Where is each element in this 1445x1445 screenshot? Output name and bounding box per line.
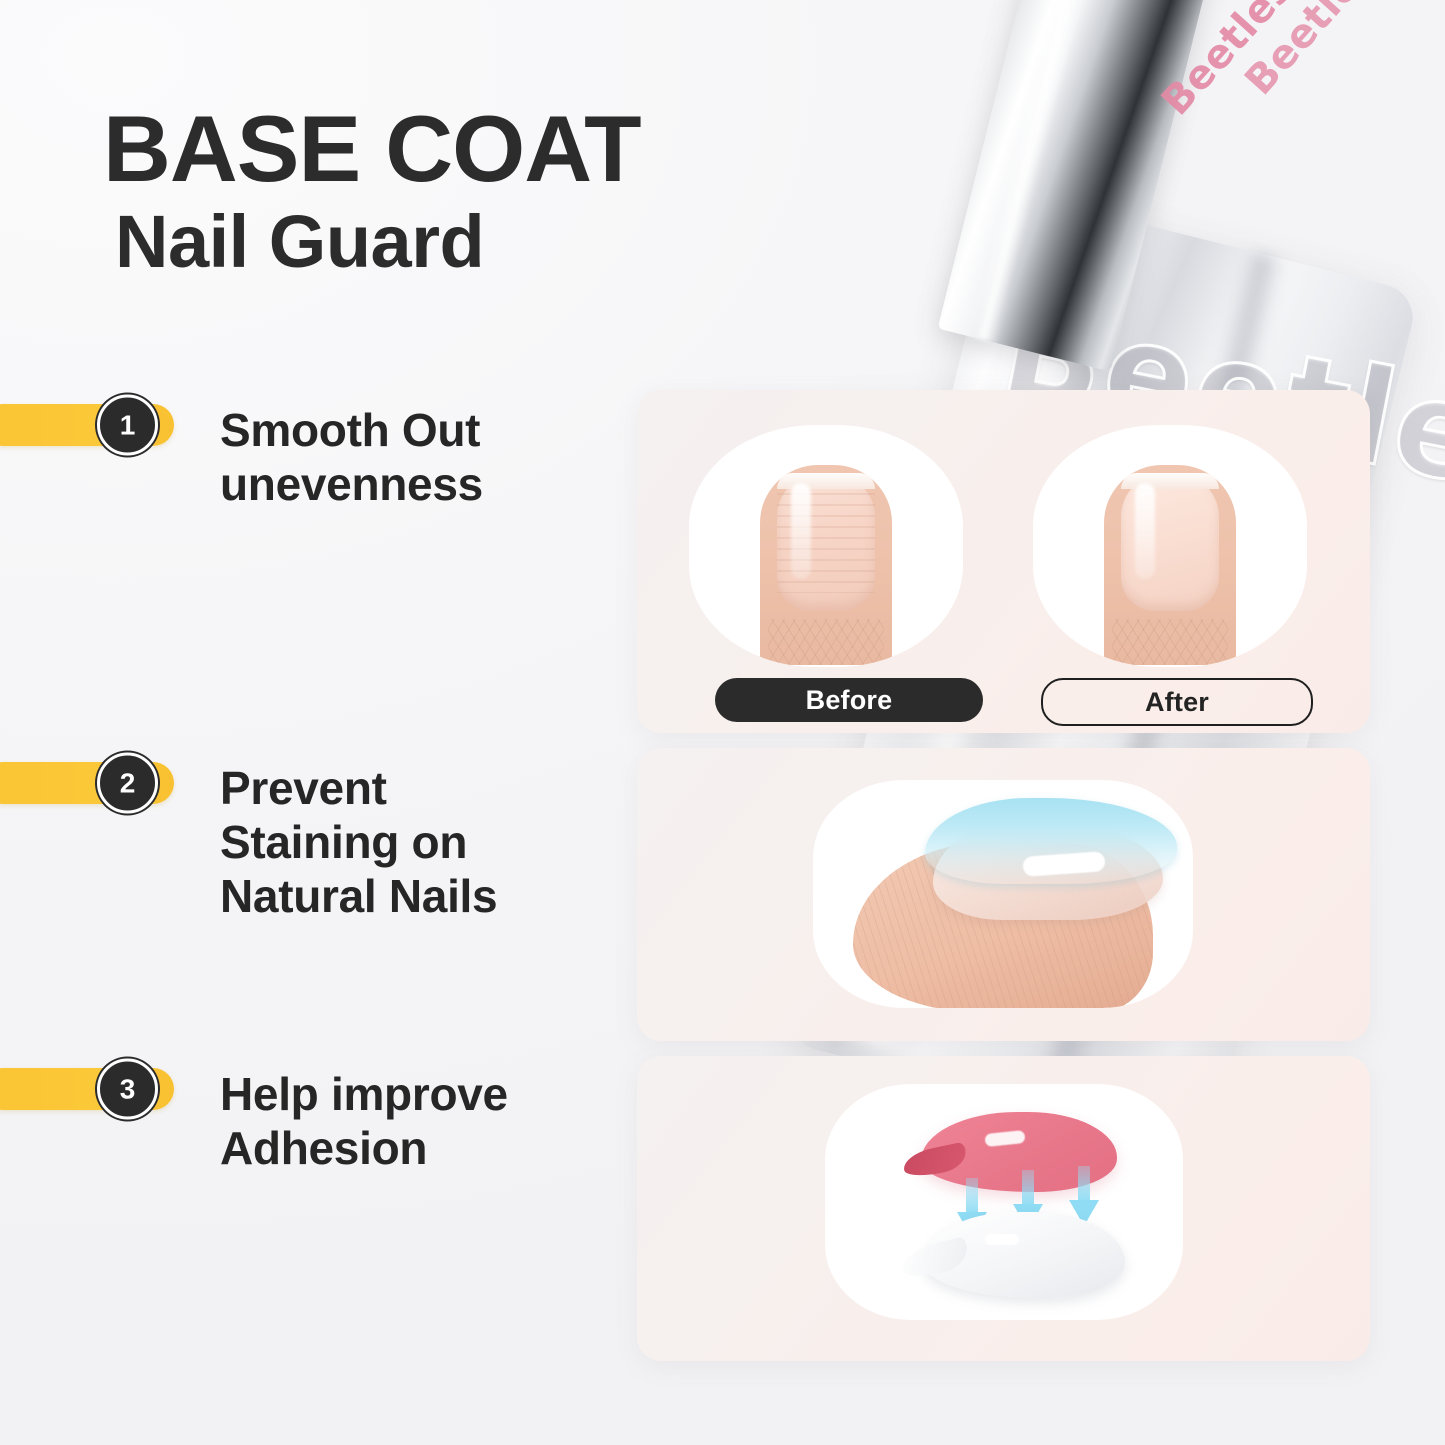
feature-number-3: 3 <box>120 1075 136 1103</box>
finger-illustration-before <box>760 465 892 665</box>
bottle-cap: Beetles Beetles Beetles <box>938 0 1224 372</box>
nail-highlight <box>791 483 811 579</box>
label-after: After <box>1041 678 1313 726</box>
page-title-group: BASE COAT Nail Guard <box>103 104 641 279</box>
feature-number-circle-3: 3 <box>97 1059 158 1120</box>
card-before-after: Before After <box>637 390 1370 733</box>
cap-brand-text-2: Beetles <box>1153 0 1302 124</box>
feature-badge-2: 2 <box>0 762 174 804</box>
card-coating-protection <box>637 748 1370 1041</box>
nail-photo-after <box>1033 425 1307 667</box>
feature-label-3: Help improve Adhesion <box>220 1068 508 1176</box>
infographic-canvas: Beetles COAT 0.5 fl.oz Beetles Beetles B… <box>0 0 1445 1445</box>
base-coat-highlight <box>985 1234 1019 1245</box>
feature-number-1: 1 <box>120 411 136 439</box>
skin-texture <box>768 619 884 665</box>
coating-illustration-holder <box>813 780 1193 1008</box>
cap-highlight <box>969 0 1110 343</box>
page-subtitle: Nail Guard <box>115 205 641 279</box>
skin-texture <box>1112 619 1228 665</box>
feature-number-circle-2: 2 <box>97 753 158 814</box>
feature-label-2: Prevent Staining on Natural Nails <box>220 762 497 923</box>
page-title: BASE COAT <box>103 104 641 193</box>
nail-photo-before <box>689 425 963 667</box>
feature-item-2: 2 Prevent Staining on Natural Nails <box>0 762 497 923</box>
feature-label-1: Smooth Out unevenness <box>220 404 483 512</box>
cap-brand-text-3: Beetles <box>1236 0 1385 104</box>
adhesion-illustration-holder <box>825 1084 1183 1320</box>
nail-highlight <box>1135 483 1155 579</box>
feature-badge-1: 1 <box>0 404 174 446</box>
feature-number-circle-1: 1 <box>97 395 158 456</box>
label-before: Before <box>715 678 983 722</box>
nail-after <box>1121 473 1219 611</box>
feature-number-2: 2 <box>120 769 136 797</box>
feature-badge-3: 3 <box>0 1068 174 1110</box>
nail-before <box>777 473 875 611</box>
finger-illustration-after <box>1104 465 1236 665</box>
card-adhesion <box>637 1056 1370 1361</box>
feature-item-1: 1 Smooth Out unevenness <box>0 404 483 512</box>
feature-item-3: 3 Help improve Adhesion <box>0 1068 508 1176</box>
